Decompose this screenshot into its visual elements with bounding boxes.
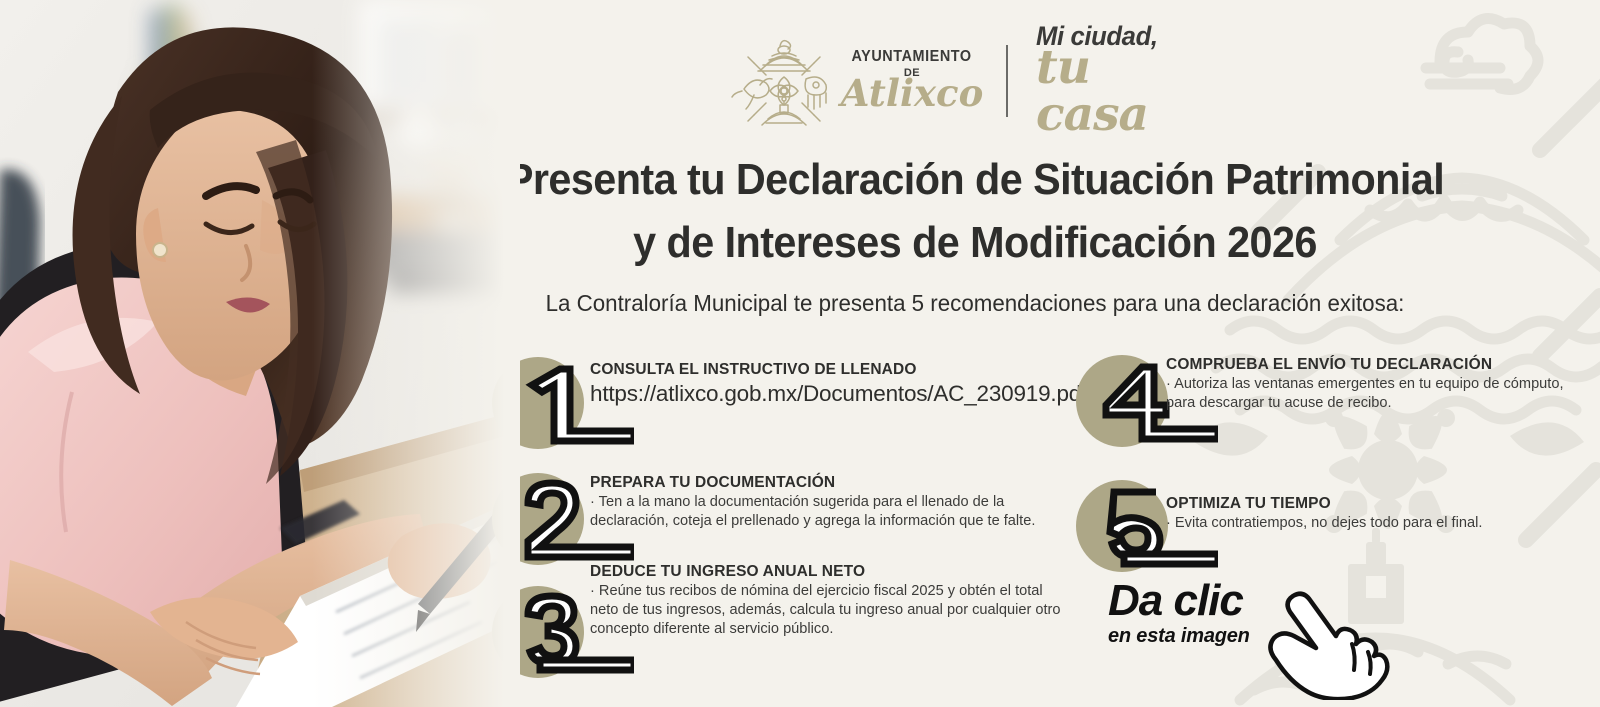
page-subtitle: La Contraloría Municipal te presenta 5 r…: [495, 288, 1455, 319]
step-title-5: OPTIMIZA TU TIEMPO: [1166, 494, 1586, 513]
wordmark-line1: AYUNTAMIENTO: [852, 49, 972, 65]
cta-line1: Da clic: [1108, 580, 1250, 622]
click-call-to-action[interactable]: Da clic en esta imagen: [1108, 580, 1250, 647]
cta-line2: en esta imagen: [1108, 625, 1250, 647]
step-title-4: COMPRUEBA EL ENVÍO TU DECLARACIÓN: [1166, 355, 1586, 374]
step-title-2: PREPARA TU DOCUMENTACIÓN: [590, 473, 1070, 492]
step-body-3: · Reúne tus recibos de nómina del ejerci…: [590, 582, 1070, 638]
step-body-5: · Evita contratiempos, no dejes todo par…: [1166, 514, 1586, 533]
tagline-line1: Mi ciudad,: [1036, 23, 1201, 50]
pointing-hand-cursor-icon: [1260, 590, 1390, 700]
step-link-1[interactable]: https://atlixco.gob.mx/Documentos/AC_230…: [590, 380, 1072, 408]
atlixco-coat-of-arms-icon: [730, 31, 838, 131]
step-text-5: OPTIMIZA TU TIEMPO · Evita contratiempos…: [1166, 494, 1586, 533]
page-title-line1: Presenta tu Declaración de Situación Pat…: [500, 148, 1449, 211]
declaration-banner[interactable]: AYUNTAMIENTO DE Atlixco Mi ciudad, tu ca…: [0, 0, 1600, 707]
ayuntamiento-wordmark: AYUNTAMIENTO DE Atlixco: [840, 49, 984, 111]
step-text-3: DEDUCE TU INGRESO ANUAL NETO · Reúne tus…: [590, 562, 1070, 639]
step-body-4: · Autoriza las ventanas emergentes en tu…: [1166, 375, 1586, 413]
city-tagline: Mi ciudad, tu casa: [1036, 23, 1210, 138]
page-title-line2: y de Intereses de Modificación 2026: [500, 211, 1449, 274]
photo-fade-mask: [0, 0, 520, 707]
brand-header: AYUNTAMIENTO DE Atlixco Mi ciudad, tu ca…: [730, 28, 1210, 133]
step-badge-5: [1076, 480, 1168, 572]
wordmark-city: Atlixco: [841, 76, 984, 111]
tagline-line2: tu casa: [1036, 44, 1210, 138]
step-text-1: CONSULTA EL INSTRUCTIVO DE LLENADO https…: [590, 360, 1072, 409]
step-title-3: DEDUCE TU INGRESO ANUAL NETO: [590, 562, 1070, 581]
step-text-4: COMPRUEBA EL ENVÍO TU DECLARACIÓN · Auto…: [1166, 355, 1586, 413]
step-body-2: · Ten a la mano la documentación sugerid…: [590, 493, 1070, 531]
woman-filling-form-photo: [0, 0, 520, 707]
step-title-1: CONSULTA EL INSTRUCTIVO DE LLENADO: [590, 360, 1072, 379]
step-text-2: PREPARA TU DOCUMENTACIÓN · Ten a la mano…: [590, 473, 1070, 531]
page-title: Presenta tu Declaración de Situación Pat…: [500, 148, 1449, 275]
header-divider: [1006, 45, 1008, 117]
step-badge-4: [1076, 355, 1168, 447]
